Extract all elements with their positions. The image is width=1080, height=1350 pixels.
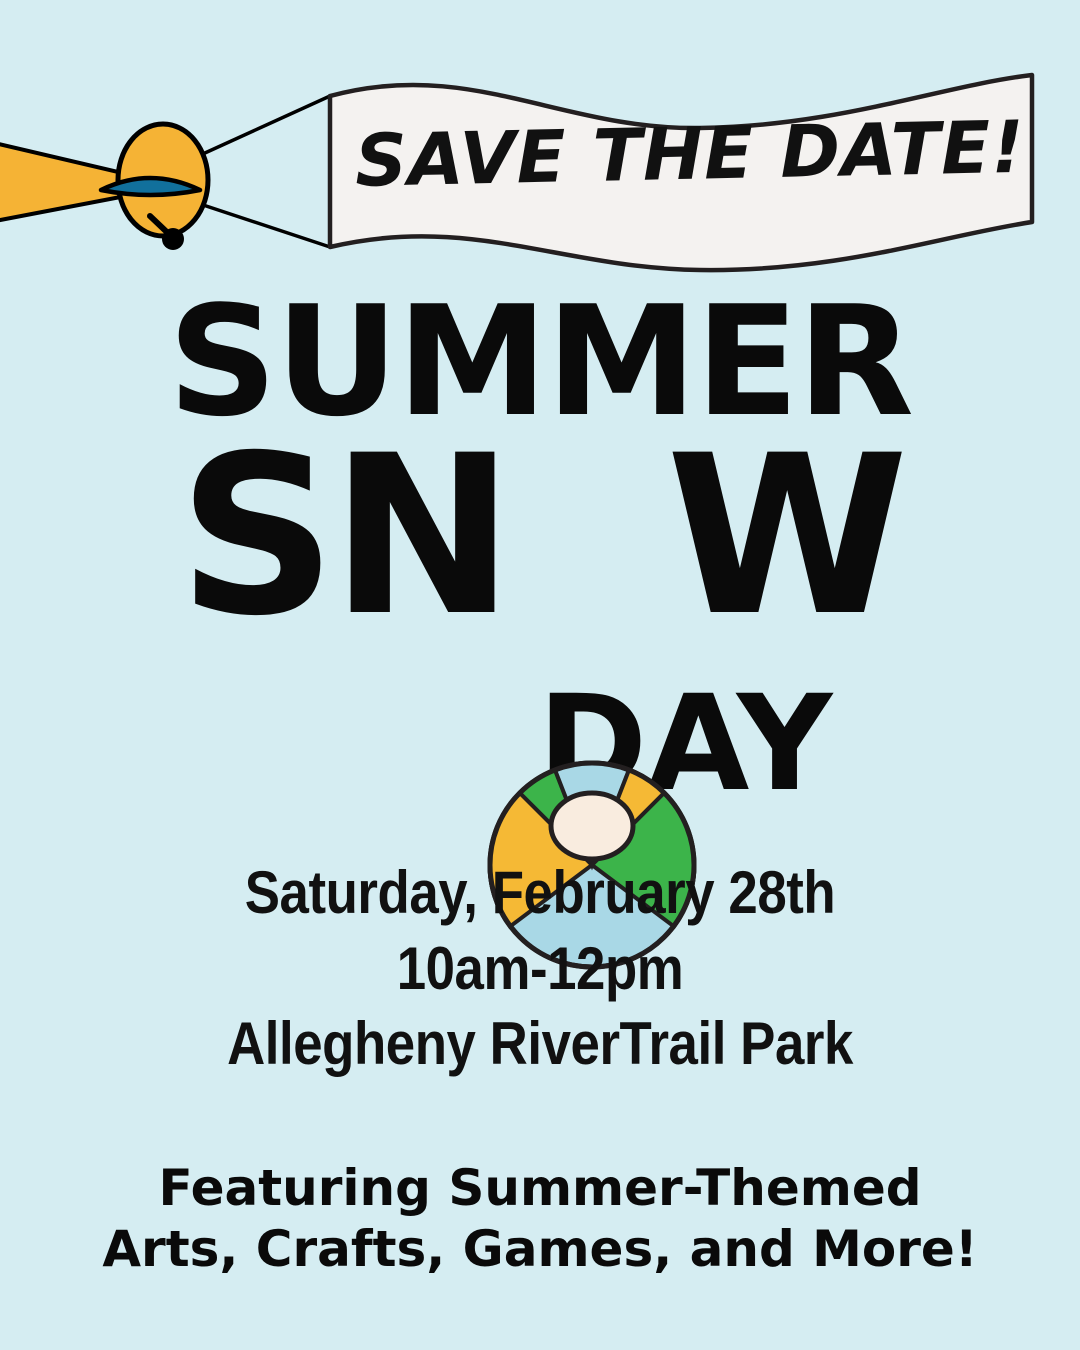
- tagline-line-1: Featuring Summer-Themed: [0, 1158, 1080, 1219]
- event-date: Saturday, February 28th: [65, 855, 1015, 931]
- tagline-line-2: Arts, Crafts, Games, and More!: [0, 1219, 1080, 1280]
- save-the-date-flyer: SAVE THE DATE! SUMMER SN W DAY: [0, 0, 1080, 1350]
- event-location: Allegheny RiverTrail Park: [65, 1006, 1015, 1082]
- main-title: SUMMER SN W DAY: [0, 286, 1080, 816]
- event-time: 10am-12pm: [65, 931, 1015, 1007]
- title-snow-left: SN: [178, 426, 509, 646]
- event-details: Saturday, February 28th 10am-12pm Allegh…: [0, 855, 1080, 1082]
- ball-hub: [551, 793, 633, 859]
- title-line-summer: SUMMER: [0, 286, 1080, 438]
- title-line-snow: SN W: [0, 426, 1080, 676]
- banner-headline: SAVE THE DATE!: [354, 111, 1005, 197]
- landing-gear-wheel: [162, 228, 184, 250]
- plane-banner-group: SAVE THE DATE!: [0, 0, 1080, 300]
- event-tagline: Featuring Summer-Themed Arts, Crafts, Ga…: [0, 1158, 1080, 1280]
- title-snow-right: W: [666, 426, 903, 646]
